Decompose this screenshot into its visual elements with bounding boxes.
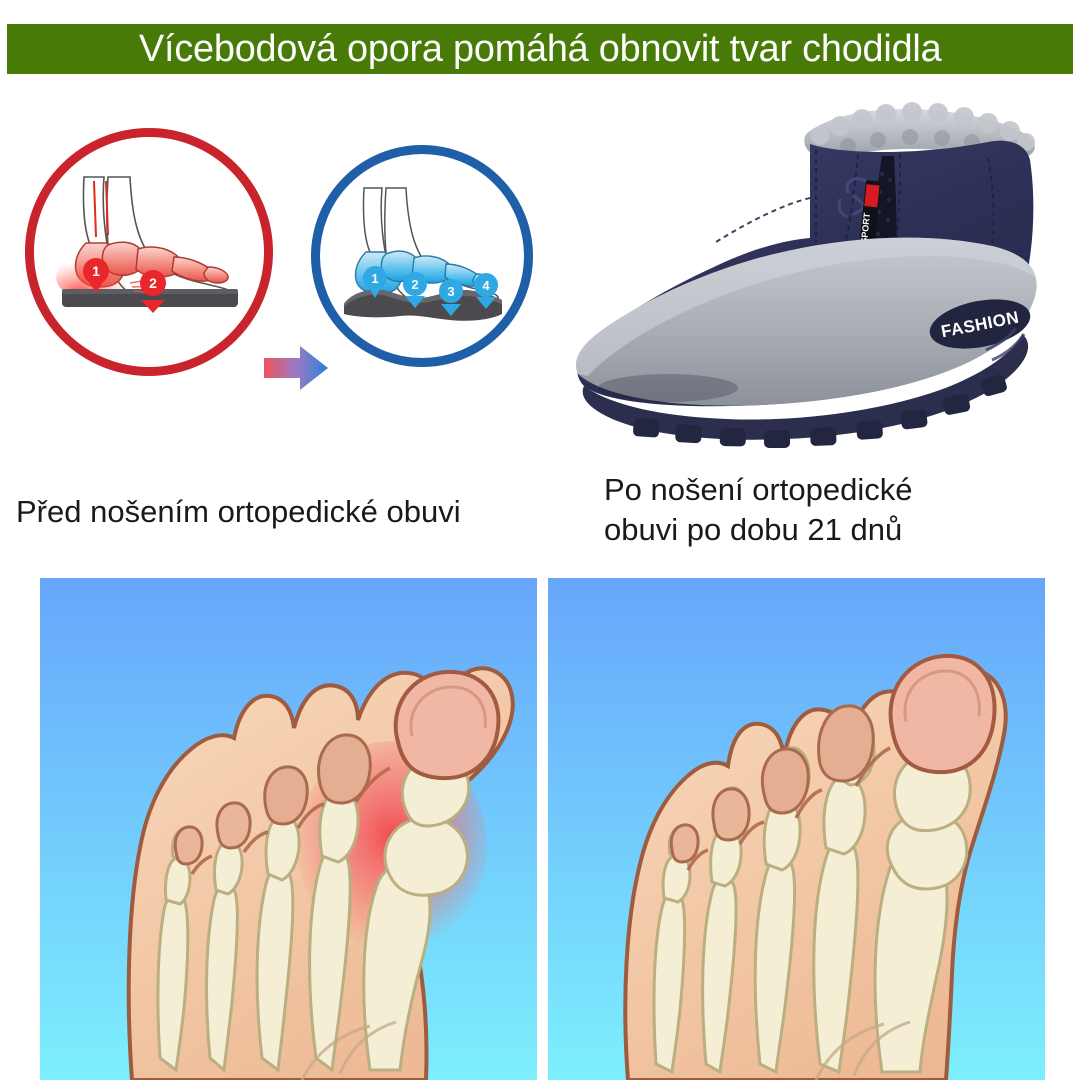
before-diagram-inner: 1 2	[34, 137, 264, 367]
foot-before-panel	[40, 578, 537, 1080]
svg-text:4: 4	[482, 278, 490, 293]
svg-text:2: 2	[411, 277, 418, 292]
svg-text:1: 1	[371, 271, 378, 286]
product-shoe-image: SPORT FASHION	[548, 88, 1080, 468]
foot-after-panel	[548, 578, 1045, 1080]
foot-support-diagram: 1 2	[0, 90, 560, 460]
transition-arrow-icon	[262, 340, 332, 396]
title-banner: Vícebodová opora pomáhá obnovit tvar cho…	[7, 24, 1073, 74]
after-support-circle: 1 2 3 4	[311, 145, 533, 367]
caption-before: Před nošením ortopedické obuvi	[16, 492, 556, 532]
caption-before-text: Před nošením ortopedické obuvi	[16, 494, 461, 529]
svg-text:1: 1	[92, 263, 100, 279]
caption-after: Po nošení ortopedické obuvi po dobu 21 d…	[604, 470, 1074, 550]
svg-text:3: 3	[447, 284, 454, 299]
after-diagram-inner: 1 2 3 4	[320, 154, 524, 358]
caption-after-line2: obuvi po dobu 21 dnů	[604, 510, 1074, 550]
caption-after-line1: Po nošení ortopedické	[604, 470, 1074, 510]
page-title: Vícebodová opora pomáhá obnovit tvar cho…	[139, 30, 941, 68]
before-support-circle: 1 2	[25, 128, 273, 376]
svg-text:2: 2	[149, 275, 157, 291]
